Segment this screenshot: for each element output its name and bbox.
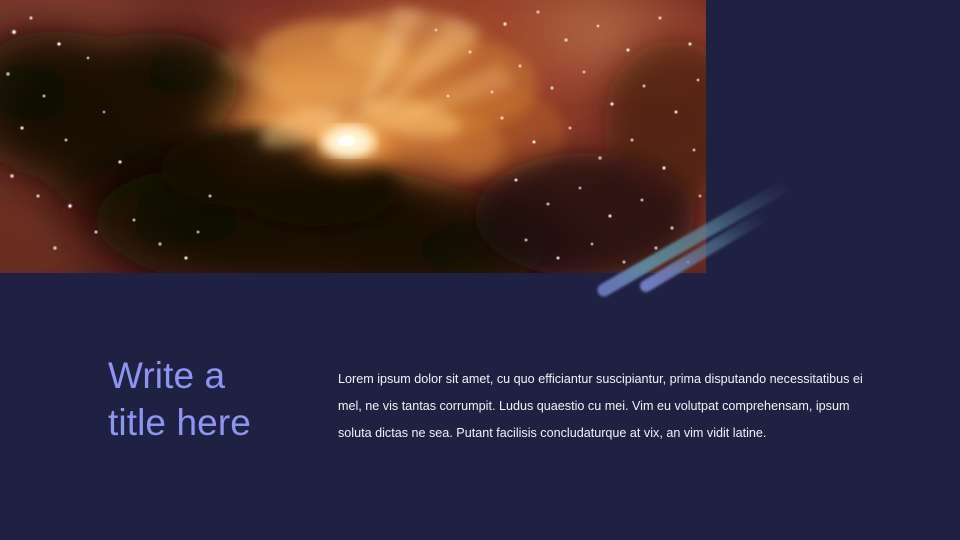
page-title: Write a title here [108, 352, 323, 446]
nebula-photo [0, 0, 706, 273]
nebula-photo-graphic [0, 0, 706, 273]
slide-canvas: Write a title here Lorem ipsum dolor sit… [0, 0, 960, 540]
body-paragraph: Lorem ipsum dolor sit amet, cu quo effic… [338, 366, 874, 447]
